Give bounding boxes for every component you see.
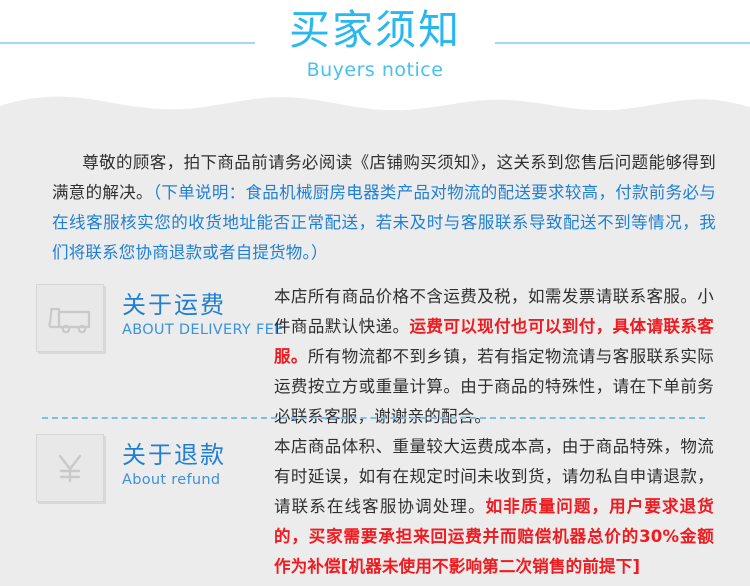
truck-icon bbox=[37, 285, 103, 351]
yuan-currency-icon bbox=[37, 435, 103, 501]
page-title-en: Buyers notice bbox=[0, 58, 750, 82]
page-title-cn: 买家须知 bbox=[0, 6, 750, 54]
section-divider bbox=[42, 417, 705, 419]
page-header: 买家须知 Buyers notice bbox=[0, 0, 750, 100]
body-content: 尊敬的顾客，拍下商品前请务必阅读《店铺购买须知》，这关系到您售后问题能够得到满意… bbox=[0, 92, 750, 586]
section-delivery-fee-heading: 关于运费 ABOUT DELIVERY FEE bbox=[36, 282, 256, 378]
yuan-currency-icon-box bbox=[36, 434, 104, 502]
body-panel: 尊敬的顾客，拍下商品前请务必阅读《店铺购买须知》，这关系到您售后问题能够得到满意… bbox=[0, 92, 750, 586]
intro-paragraph: 尊敬的顾客，拍下商品前请务必阅读《店铺购买须知》，这关系到您售后问题能够得到满意… bbox=[52, 148, 716, 268]
truck-icon-box bbox=[36, 284, 104, 352]
section-refund-body: 本店商品体积、重量较大运费成本高，由于商品特殊，物流有时延误，如有在规定时间未收… bbox=[274, 432, 714, 582]
title-block: 买家须知 Buyers notice bbox=[0, 6, 750, 82]
fee-body-text-2: 所有物流都不到乡镇，若有指定物流请与客服联系实际运费按立方或重量计算。由于商品的… bbox=[274, 347, 714, 426]
section-refund-heading: 关于退款 About refund bbox=[36, 432, 256, 528]
section-delivery-fee-body: 本店所有商品价格不含运费及税，如需发票请联系客服。小件商品默认快递。运费可以现付… bbox=[274, 282, 714, 432]
